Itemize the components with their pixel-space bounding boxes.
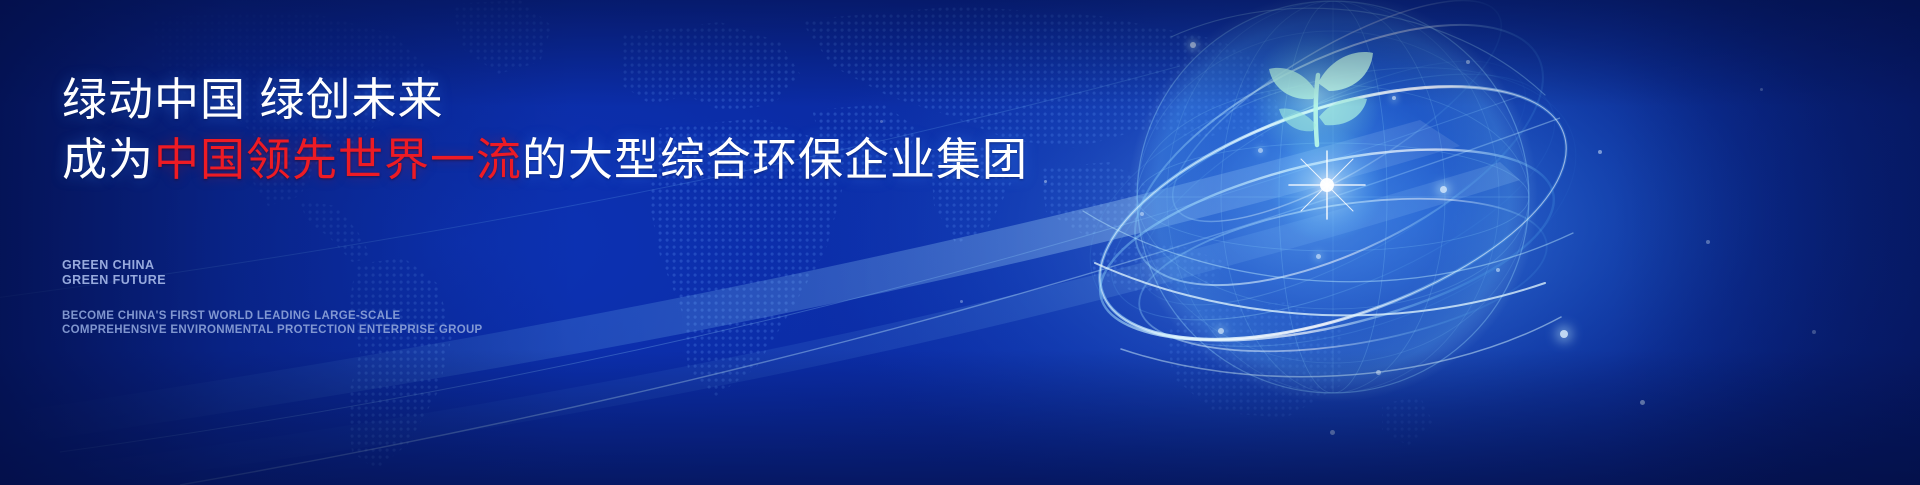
headline-line-1: 绿动中国 绿创未来 [62, 72, 1062, 128]
headline-highlight: 中国领先世界一流 [154, 134, 522, 185]
headline-prefix: 成为 [62, 134, 154, 185]
slogan-line-1: GREEN CHINA [62, 258, 166, 273]
hero-banner: 绿动中国 绿创未来 成为中国领先世界一流的大型综合环保企业集团 GREEN CH… [0, 0, 1920, 485]
tagline-line-1: BECOME CHINA'S FIRST WORLD LEADING LARGE… [62, 310, 483, 324]
copy-block: 绿动中国 绿创未来 成为中国领先世界一流的大型综合环保企业集团 GREEN CH… [62, 0, 1062, 485]
sprout-leaf-icon [1251, 29, 1383, 161]
tagline-line-2: COMPREHENSIVE ENVIRONMENTAL PROTECTION E… [62, 324, 483, 338]
globe-graphic [1075, 0, 1595, 485]
slogan: GREEN CHINA GREEN FUTURE [62, 258, 166, 287]
tagline: BECOME CHINA'S FIRST WORLD LEADING LARGE… [62, 310, 483, 337]
headline-line-2: 成为中国领先世界一流的大型综合环保企业集团 [62, 132, 1062, 188]
headline: 绿动中国 绿创未来 成为中国领先世界一流的大型综合环保企业集团 [62, 72, 1062, 188]
headline-suffix: 的大型综合环保企业集团 [522, 134, 1028, 185]
slogan-line-2: GREEN FUTURE [62, 273, 166, 288]
